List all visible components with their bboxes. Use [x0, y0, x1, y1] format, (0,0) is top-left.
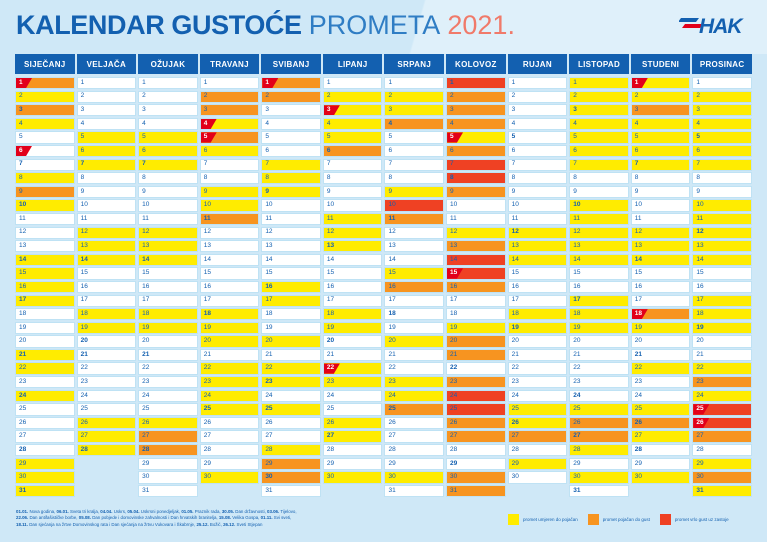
day-cell-10-3[interactable]: 3	[569, 104, 629, 116]
day-cell-11-11[interactable]: 11	[631, 213, 691, 225]
day-cell-7-23[interactable]: 23	[384, 376, 444, 388]
day-cell-7-17[interactable]: 17	[384, 295, 444, 307]
day-cell-10-2[interactable]: 2	[569, 91, 629, 103]
day-cell-8-17[interactable]: 17	[446, 295, 506, 307]
day-cell-3-7[interactable]: 7	[138, 159, 198, 171]
day-cell-4-17[interactable]: 17	[200, 295, 260, 307]
day-cell-11-9[interactable]: 9	[631, 186, 691, 198]
day-cell-4-26[interactable]: 26	[200, 417, 260, 429]
day-cell-9-22[interactable]: 22	[508, 362, 568, 374]
day-cell-4-21[interactable]: 21	[200, 349, 260, 361]
day-cell-10-12[interactable]: 12	[569, 227, 629, 239]
day-cell-3-8[interactable]: 8	[138, 172, 198, 184]
day-cell-5-25[interactable]: 25	[261, 403, 321, 415]
day-cell-9-1[interactable]: 1	[508, 77, 568, 89]
day-cell-4-22[interactable]: 22	[200, 362, 260, 374]
day-cell-1-21[interactable]: 21	[15, 349, 75, 361]
day-cell-1-19[interactable]: 19	[15, 322, 75, 334]
day-cell-10-5[interactable]: 5	[569, 131, 629, 143]
day-cell-1-26[interactable]: 26	[15, 417, 75, 429]
day-cell-3-25[interactable]: 25	[138, 403, 198, 415]
day-cell-9-12[interactable]: 12	[508, 227, 568, 239]
day-cell-8-24[interactable]: 24	[446, 390, 506, 402]
day-cell-4-4[interactable]: 4	[200, 118, 260, 130]
day-cell-7-11[interactable]: 11	[384, 213, 444, 225]
day-cell-5-17[interactable]: 17	[261, 295, 321, 307]
day-cell-11-17[interactable]: 17	[631, 295, 691, 307]
day-cell-3-17[interactable]: 17	[138, 295, 198, 307]
day-cell-2-8[interactable]: 8	[77, 172, 137, 184]
day-cell-2-4[interactable]: 4	[77, 118, 137, 130]
day-cell-1-8[interactable]: 8	[15, 172, 75, 184]
day-cell-7-18[interactable]: 18	[384, 308, 444, 320]
day-cell-8-7[interactable]: 7	[446, 159, 506, 171]
day-cell-9-16[interactable]: 16	[508, 281, 568, 293]
day-cell-10-18[interactable]: 18	[569, 308, 629, 320]
day-cell-6-24[interactable]: 24	[323, 390, 383, 402]
day-cell-12-31[interactable]: 31	[692, 485, 752, 497]
day-cell-8-10[interactable]: 10	[446, 199, 506, 211]
day-cell-7-31[interactable]: 31	[384, 485, 444, 497]
day-cell-2-11[interactable]: 11	[77, 213, 137, 225]
day-cell-11-2[interactable]: 2	[631, 91, 691, 103]
day-cell-7-4[interactable]: 4	[384, 118, 444, 130]
day-cell-9-3[interactable]: 3	[508, 104, 568, 116]
day-cell-8-18[interactable]: 18	[446, 308, 506, 320]
day-cell-5-2[interactable]: 2	[261, 91, 321, 103]
day-cell-4-20[interactable]: 20	[200, 335, 260, 347]
day-cell-5-19[interactable]: 19	[261, 322, 321, 334]
day-cell-4-16[interactable]: 16	[200, 281, 260, 293]
day-cell-3-6[interactable]: 6	[138, 145, 198, 157]
day-cell-8-27[interactable]: 27	[446, 430, 506, 442]
day-cell-10-14[interactable]: 14	[569, 254, 629, 266]
day-cell-3-30[interactable]: 30	[138, 471, 198, 483]
day-cell-7-3[interactable]: 3	[384, 104, 444, 116]
month-header-4[interactable]: TRAVANJ	[200, 54, 260, 74]
day-cell-6-20[interactable]: 20	[323, 335, 383, 347]
day-cell-5-4[interactable]: 4	[261, 118, 321, 130]
day-cell-1-24[interactable]: 24	[15, 390, 75, 402]
day-cell-9-4[interactable]: 4	[508, 118, 568, 130]
day-cell-2-26[interactable]: 26	[77, 417, 137, 429]
day-cell-6-11[interactable]: 11	[323, 213, 383, 225]
day-cell-11-4[interactable]: 4	[631, 118, 691, 130]
day-cell-1-1[interactable]: 1	[15, 77, 75, 89]
day-cell-10-23[interactable]: 23	[569, 376, 629, 388]
day-cell-10-4[interactable]: 4	[569, 118, 629, 130]
day-cell-10-6[interactable]: 6	[569, 145, 629, 157]
day-cell-12-3[interactable]: 3	[692, 104, 752, 116]
day-cell-6-6[interactable]: 6	[323, 145, 383, 157]
day-cell-12-17[interactable]: 17	[692, 295, 752, 307]
day-cell-6-5[interactable]: 5	[323, 131, 383, 143]
day-cell-6-21[interactable]: 21	[323, 349, 383, 361]
day-cell-7-10[interactable]: 10	[384, 199, 444, 211]
day-cell-7-27[interactable]: 27	[384, 430, 444, 442]
day-cell-11-16[interactable]: 16	[631, 281, 691, 293]
day-cell-8-12[interactable]: 12	[446, 227, 506, 239]
day-cell-10-11[interactable]: 11	[569, 213, 629, 225]
day-cell-8-3[interactable]: 3	[446, 104, 506, 116]
day-cell-12-9[interactable]: 9	[692, 186, 752, 198]
day-cell-12-15[interactable]: 15	[692, 267, 752, 279]
day-cell-9-26[interactable]: 26	[508, 417, 568, 429]
day-cell-3-29[interactable]: 29	[138, 458, 198, 470]
day-cell-1-16[interactable]: 16	[15, 281, 75, 293]
day-cell-2-25[interactable]: 25	[77, 403, 137, 415]
day-cell-2-16[interactable]: 16	[77, 281, 137, 293]
day-cell-1-9[interactable]: 9	[15, 186, 75, 198]
day-cell-7-9[interactable]: 9	[384, 186, 444, 198]
day-cell-6-23[interactable]: 23	[323, 376, 383, 388]
day-cell-11-21[interactable]: 21	[631, 349, 691, 361]
day-cell-11-20[interactable]: 20	[631, 335, 691, 347]
day-cell-7-8[interactable]: 8	[384, 172, 444, 184]
day-cell-6-2[interactable]: 2	[323, 91, 383, 103]
day-cell-12-23[interactable]: 23	[692, 376, 752, 388]
day-cell-12-6[interactable]: 6	[692, 145, 752, 157]
day-cell-1-2[interactable]: 2	[15, 91, 75, 103]
day-cell-11-29[interactable]: 29	[631, 458, 691, 470]
day-cell-12-22[interactable]: 22	[692, 362, 752, 374]
day-cell-7-26[interactable]: 26	[384, 417, 444, 429]
day-cell-8-29[interactable]: 29	[446, 458, 506, 470]
day-cell-6-16[interactable]: 16	[323, 281, 383, 293]
day-cell-10-24[interactable]: 24	[569, 390, 629, 402]
day-cell-1-22[interactable]: 22	[15, 362, 75, 374]
day-cell-4-3[interactable]: 3	[200, 104, 260, 116]
day-cell-3-11[interactable]: 11	[138, 213, 198, 225]
month-header-10[interactable]: LISTOPAD	[569, 54, 629, 74]
day-cell-4-30[interactable]: 30	[200, 471, 260, 483]
day-cell-4-23[interactable]: 23	[200, 376, 260, 388]
day-cell-9-9[interactable]: 9	[508, 186, 568, 198]
month-header-8[interactable]: KOLOVOZ	[446, 54, 506, 74]
day-cell-5-12[interactable]: 12	[261, 227, 321, 239]
day-cell-1-30[interactable]: 30	[15, 471, 75, 483]
day-cell-3-21[interactable]: 21	[138, 349, 198, 361]
day-cell-11-3[interactable]: 3	[631, 104, 691, 116]
day-cell-1-4[interactable]: 4	[15, 118, 75, 130]
day-cell-9-29[interactable]: 29	[508, 458, 568, 470]
day-cell-2-22[interactable]: 22	[77, 362, 137, 374]
day-cell-8-4[interactable]: 4	[446, 118, 506, 130]
day-cell-8-13[interactable]: 13	[446, 240, 506, 252]
day-cell-5-15[interactable]: 15	[261, 267, 321, 279]
day-cell-7-12[interactable]: 12	[384, 227, 444, 239]
day-cell-9-24[interactable]: 24	[508, 390, 568, 402]
day-cell-1-11[interactable]: 11	[15, 213, 75, 225]
day-cell-7-19[interactable]: 19	[384, 322, 444, 334]
day-cell-3-5[interactable]: 5	[138, 131, 198, 143]
day-cell-4-27[interactable]: 27	[200, 430, 260, 442]
day-cell-7-15[interactable]: 15	[384, 267, 444, 279]
day-cell-10-31[interactable]: 31	[569, 485, 629, 497]
day-cell-9-8[interactable]: 8	[508, 172, 568, 184]
day-cell-10-29[interactable]: 29	[569, 458, 629, 470]
day-cell-11-12[interactable]: 12	[631, 227, 691, 239]
day-cell-1-6[interactable]: 6	[15, 145, 75, 157]
day-cell-9-2[interactable]: 2	[508, 91, 568, 103]
day-cell-5-11[interactable]: 11	[261, 213, 321, 225]
day-cell-5-6[interactable]: 6	[261, 145, 321, 157]
day-cell-7-24[interactable]: 24	[384, 390, 444, 402]
day-cell-1-3[interactable]: 3	[15, 104, 75, 116]
day-cell-8-20[interactable]: 20	[446, 335, 506, 347]
day-cell-5-7[interactable]: 7	[261, 159, 321, 171]
day-cell-11-23[interactable]: 23	[631, 376, 691, 388]
day-cell-2-18[interactable]: 18	[77, 308, 137, 320]
day-cell-11-7[interactable]: 7	[631, 159, 691, 171]
day-cell-8-25[interactable]: 25	[446, 403, 506, 415]
day-cell-5-27[interactable]: 27	[261, 430, 321, 442]
day-cell-1-28[interactable]: 28	[15, 444, 75, 456]
day-cell-4-11[interactable]: 11	[200, 213, 260, 225]
day-cell-12-13[interactable]: 13	[692, 240, 752, 252]
day-cell-6-3[interactable]: 3	[323, 104, 383, 116]
day-cell-12-20[interactable]: 20	[692, 335, 752, 347]
day-cell-5-18[interactable]: 18	[261, 308, 321, 320]
day-cell-11-8[interactable]: 8	[631, 172, 691, 184]
day-cell-5-3[interactable]: 3	[261, 104, 321, 116]
day-cell-1-13[interactable]: 13	[15, 240, 75, 252]
day-cell-9-19[interactable]: 19	[508, 322, 568, 334]
day-cell-7-5[interactable]: 5	[384, 131, 444, 143]
day-cell-8-21[interactable]: 21	[446, 349, 506, 361]
day-cell-3-23[interactable]: 23	[138, 376, 198, 388]
day-cell-5-8[interactable]: 8	[261, 172, 321, 184]
day-cell-5-13[interactable]: 13	[261, 240, 321, 252]
day-cell-3-15[interactable]: 15	[138, 267, 198, 279]
day-cell-11-27[interactable]: 27	[631, 430, 691, 442]
day-cell-1-14[interactable]: 14	[15, 254, 75, 266]
day-cell-1-27[interactable]: 27	[15, 430, 75, 442]
day-cell-2-12[interactable]: 12	[77, 227, 137, 239]
day-cell-2-27[interactable]: 27	[77, 430, 137, 442]
day-cell-12-26[interactable]: 26	[692, 417, 752, 429]
month-header-6[interactable]: LIPANJ	[323, 54, 383, 74]
day-cell-9-7[interactable]: 7	[508, 159, 568, 171]
day-cell-6-27[interactable]: 27	[323, 430, 383, 442]
day-cell-4-13[interactable]: 13	[200, 240, 260, 252]
day-cell-6-15[interactable]: 15	[323, 267, 383, 279]
day-cell-8-23[interactable]: 23	[446, 376, 506, 388]
month-header-5[interactable]: SVIBANJ	[261, 54, 321, 74]
day-cell-2-1[interactable]: 1	[77, 77, 137, 89]
day-cell-9-14[interactable]: 14	[508, 254, 568, 266]
day-cell-4-9[interactable]: 9	[200, 186, 260, 198]
day-cell-12-24[interactable]: 24	[692, 390, 752, 402]
day-cell-3-1[interactable]: 1	[138, 77, 198, 89]
day-cell-12-7[interactable]: 7	[692, 159, 752, 171]
day-cell-7-30[interactable]: 30	[384, 471, 444, 483]
day-cell-4-7[interactable]: 7	[200, 159, 260, 171]
day-cell-3-4[interactable]: 4	[138, 118, 198, 130]
day-cell-12-16[interactable]: 16	[692, 281, 752, 293]
day-cell-3-24[interactable]: 24	[138, 390, 198, 402]
day-cell-5-31[interactable]: 31	[261, 485, 321, 497]
day-cell-2-24[interactable]: 24	[77, 390, 137, 402]
day-cell-10-27[interactable]: 27	[569, 430, 629, 442]
day-cell-3-10[interactable]: 10	[138, 199, 198, 211]
day-cell-12-18[interactable]: 18	[692, 308, 752, 320]
day-cell-2-9[interactable]: 9	[77, 186, 137, 198]
day-cell-7-2[interactable]: 2	[384, 91, 444, 103]
day-cell-4-2[interactable]: 2	[200, 91, 260, 103]
day-cell-3-12[interactable]: 12	[138, 227, 198, 239]
day-cell-6-26[interactable]: 26	[323, 417, 383, 429]
day-cell-5-26[interactable]: 26	[261, 417, 321, 429]
day-cell-10-28[interactable]: 28	[569, 444, 629, 456]
day-cell-4-10[interactable]: 10	[200, 199, 260, 211]
day-cell-10-15[interactable]: 15	[569, 267, 629, 279]
day-cell-12-30[interactable]: 30	[692, 471, 752, 483]
day-cell-12-19[interactable]: 19	[692, 322, 752, 334]
day-cell-3-3[interactable]: 3	[138, 104, 198, 116]
day-cell-10-22[interactable]: 22	[569, 362, 629, 374]
day-cell-9-17[interactable]: 17	[508, 295, 568, 307]
day-cell-8-28[interactable]: 28	[446, 444, 506, 456]
day-cell-8-6[interactable]: 6	[446, 145, 506, 157]
day-cell-4-19[interactable]: 19	[200, 322, 260, 334]
day-cell-3-27[interactable]: 27	[138, 430, 198, 442]
day-cell-6-9[interactable]: 9	[323, 186, 383, 198]
day-cell-2-20[interactable]: 20	[77, 335, 137, 347]
day-cell-10-16[interactable]: 16	[569, 281, 629, 293]
day-cell-10-21[interactable]: 21	[569, 349, 629, 361]
day-cell-5-5[interactable]: 5	[261, 131, 321, 143]
day-cell-6-30[interactable]: 30	[323, 471, 383, 483]
day-cell-6-10[interactable]: 10	[323, 199, 383, 211]
day-cell-10-7[interactable]: 7	[569, 159, 629, 171]
day-cell-11-14[interactable]: 14	[631, 254, 691, 266]
day-cell-11-26[interactable]: 26	[631, 417, 691, 429]
day-cell-5-29[interactable]: 29	[261, 458, 321, 470]
day-cell-11-19[interactable]: 19	[631, 322, 691, 334]
day-cell-5-9[interactable]: 9	[261, 186, 321, 198]
day-cell-10-20[interactable]: 20	[569, 335, 629, 347]
day-cell-5-14[interactable]: 14	[261, 254, 321, 266]
day-cell-2-7[interactable]: 7	[77, 159, 137, 171]
day-cell-8-5[interactable]: 5	[446, 131, 506, 143]
day-cell-1-18[interactable]: 18	[15, 308, 75, 320]
day-cell-10-8[interactable]: 8	[569, 172, 629, 184]
day-cell-9-25[interactable]: 25	[508, 403, 568, 415]
day-cell-9-11[interactable]: 11	[508, 213, 568, 225]
day-cell-6-7[interactable]: 7	[323, 159, 383, 171]
day-cell-12-12[interactable]: 12	[692, 227, 752, 239]
day-cell-8-2[interactable]: 2	[446, 91, 506, 103]
day-cell-4-28[interactable]: 28	[200, 444, 260, 456]
day-cell-4-29[interactable]: 29	[200, 458, 260, 470]
day-cell-6-28[interactable]: 28	[323, 444, 383, 456]
day-cell-6-17[interactable]: 17	[323, 295, 383, 307]
day-cell-10-26[interactable]: 26	[569, 417, 629, 429]
day-cell-4-18[interactable]: 18	[200, 308, 260, 320]
month-header-7[interactable]: SRPANJ	[384, 54, 444, 74]
day-cell-9-13[interactable]: 13	[508, 240, 568, 252]
day-cell-11-28[interactable]: 28	[631, 444, 691, 456]
day-cell-11-25[interactable]: 25	[631, 403, 691, 415]
day-cell-2-3[interactable]: 3	[77, 104, 137, 116]
day-cell-3-22[interactable]: 22	[138, 362, 198, 374]
day-cell-5-30[interactable]: 30	[261, 471, 321, 483]
day-cell-12-14[interactable]: 14	[692, 254, 752, 266]
month-header-9[interactable]: RUJAN	[508, 54, 568, 74]
day-cell-11-10[interactable]: 10	[631, 199, 691, 211]
day-cell-5-10[interactable]: 10	[261, 199, 321, 211]
day-cell-8-30[interactable]: 30	[446, 471, 506, 483]
day-cell-9-10[interactable]: 10	[508, 199, 568, 211]
day-cell-10-9[interactable]: 9	[569, 186, 629, 198]
day-cell-1-20[interactable]: 20	[15, 335, 75, 347]
day-cell-3-16[interactable]: 16	[138, 281, 198, 293]
day-cell-8-9[interactable]: 9	[446, 186, 506, 198]
day-cell-12-5[interactable]: 5	[692, 131, 752, 143]
day-cell-6-19[interactable]: 19	[323, 322, 383, 334]
day-cell-4-14[interactable]: 14	[200, 254, 260, 266]
day-cell-11-6[interactable]: 6	[631, 145, 691, 157]
day-cell-10-10[interactable]: 10	[569, 199, 629, 211]
month-header-11[interactable]: STUDENI	[631, 54, 691, 74]
month-header-12[interactable]: PROSINAC	[692, 54, 752, 74]
day-cell-6-4[interactable]: 4	[323, 118, 383, 130]
day-cell-7-16[interactable]: 16	[384, 281, 444, 293]
day-cell-2-23[interactable]: 23	[77, 376, 137, 388]
day-cell-5-22[interactable]: 22	[261, 362, 321, 374]
day-cell-6-22[interactable]: 22	[323, 362, 383, 374]
day-cell-11-18[interactable]: 18	[631, 308, 691, 320]
day-cell-6-8[interactable]: 8	[323, 172, 383, 184]
day-cell-2-17[interactable]: 17	[77, 295, 137, 307]
month-header-2[interactable]: VELJAČA	[77, 54, 137, 74]
day-cell-8-26[interactable]: 26	[446, 417, 506, 429]
day-cell-10-1[interactable]: 1	[569, 77, 629, 89]
day-cell-4-15[interactable]: 15	[200, 267, 260, 279]
day-cell-6-18[interactable]: 18	[323, 308, 383, 320]
day-cell-12-1[interactable]: 1	[692, 77, 752, 89]
day-cell-11-24[interactable]: 24	[631, 390, 691, 402]
day-cell-11-30[interactable]: 30	[631, 471, 691, 483]
day-cell-2-5[interactable]: 5	[77, 131, 137, 143]
day-cell-12-10[interactable]: 10	[692, 199, 752, 211]
day-cell-4-12[interactable]: 12	[200, 227, 260, 239]
day-cell-9-18[interactable]: 18	[508, 308, 568, 320]
day-cell-8-11[interactable]: 11	[446, 213, 506, 225]
day-cell-1-25[interactable]: 25	[15, 403, 75, 415]
day-cell-9-30[interactable]: 30	[508, 471, 568, 483]
day-cell-2-10[interactable]: 10	[77, 199, 137, 211]
day-cell-5-16[interactable]: 16	[261, 281, 321, 293]
month-header-3[interactable]: OŽUJAK	[138, 54, 198, 74]
day-cell-12-8[interactable]: 8	[692, 172, 752, 184]
day-cell-6-29[interactable]: 29	[323, 458, 383, 470]
day-cell-6-12[interactable]: 12	[323, 227, 383, 239]
day-cell-12-11[interactable]: 11	[692, 213, 752, 225]
day-cell-11-1[interactable]: 1	[631, 77, 691, 89]
day-cell-5-21[interactable]: 21	[261, 349, 321, 361]
day-cell-4-5[interactable]: 5	[200, 131, 260, 143]
day-cell-11-15[interactable]: 15	[631, 267, 691, 279]
day-cell-1-12[interactable]: 12	[15, 227, 75, 239]
day-cell-1-15[interactable]: 15	[15, 267, 75, 279]
day-cell-7-29[interactable]: 29	[384, 458, 444, 470]
day-cell-12-25[interactable]: 25	[692, 403, 752, 415]
day-cell-7-7[interactable]: 7	[384, 159, 444, 171]
day-cell-9-21[interactable]: 21	[508, 349, 568, 361]
day-cell-7-21[interactable]: 21	[384, 349, 444, 361]
